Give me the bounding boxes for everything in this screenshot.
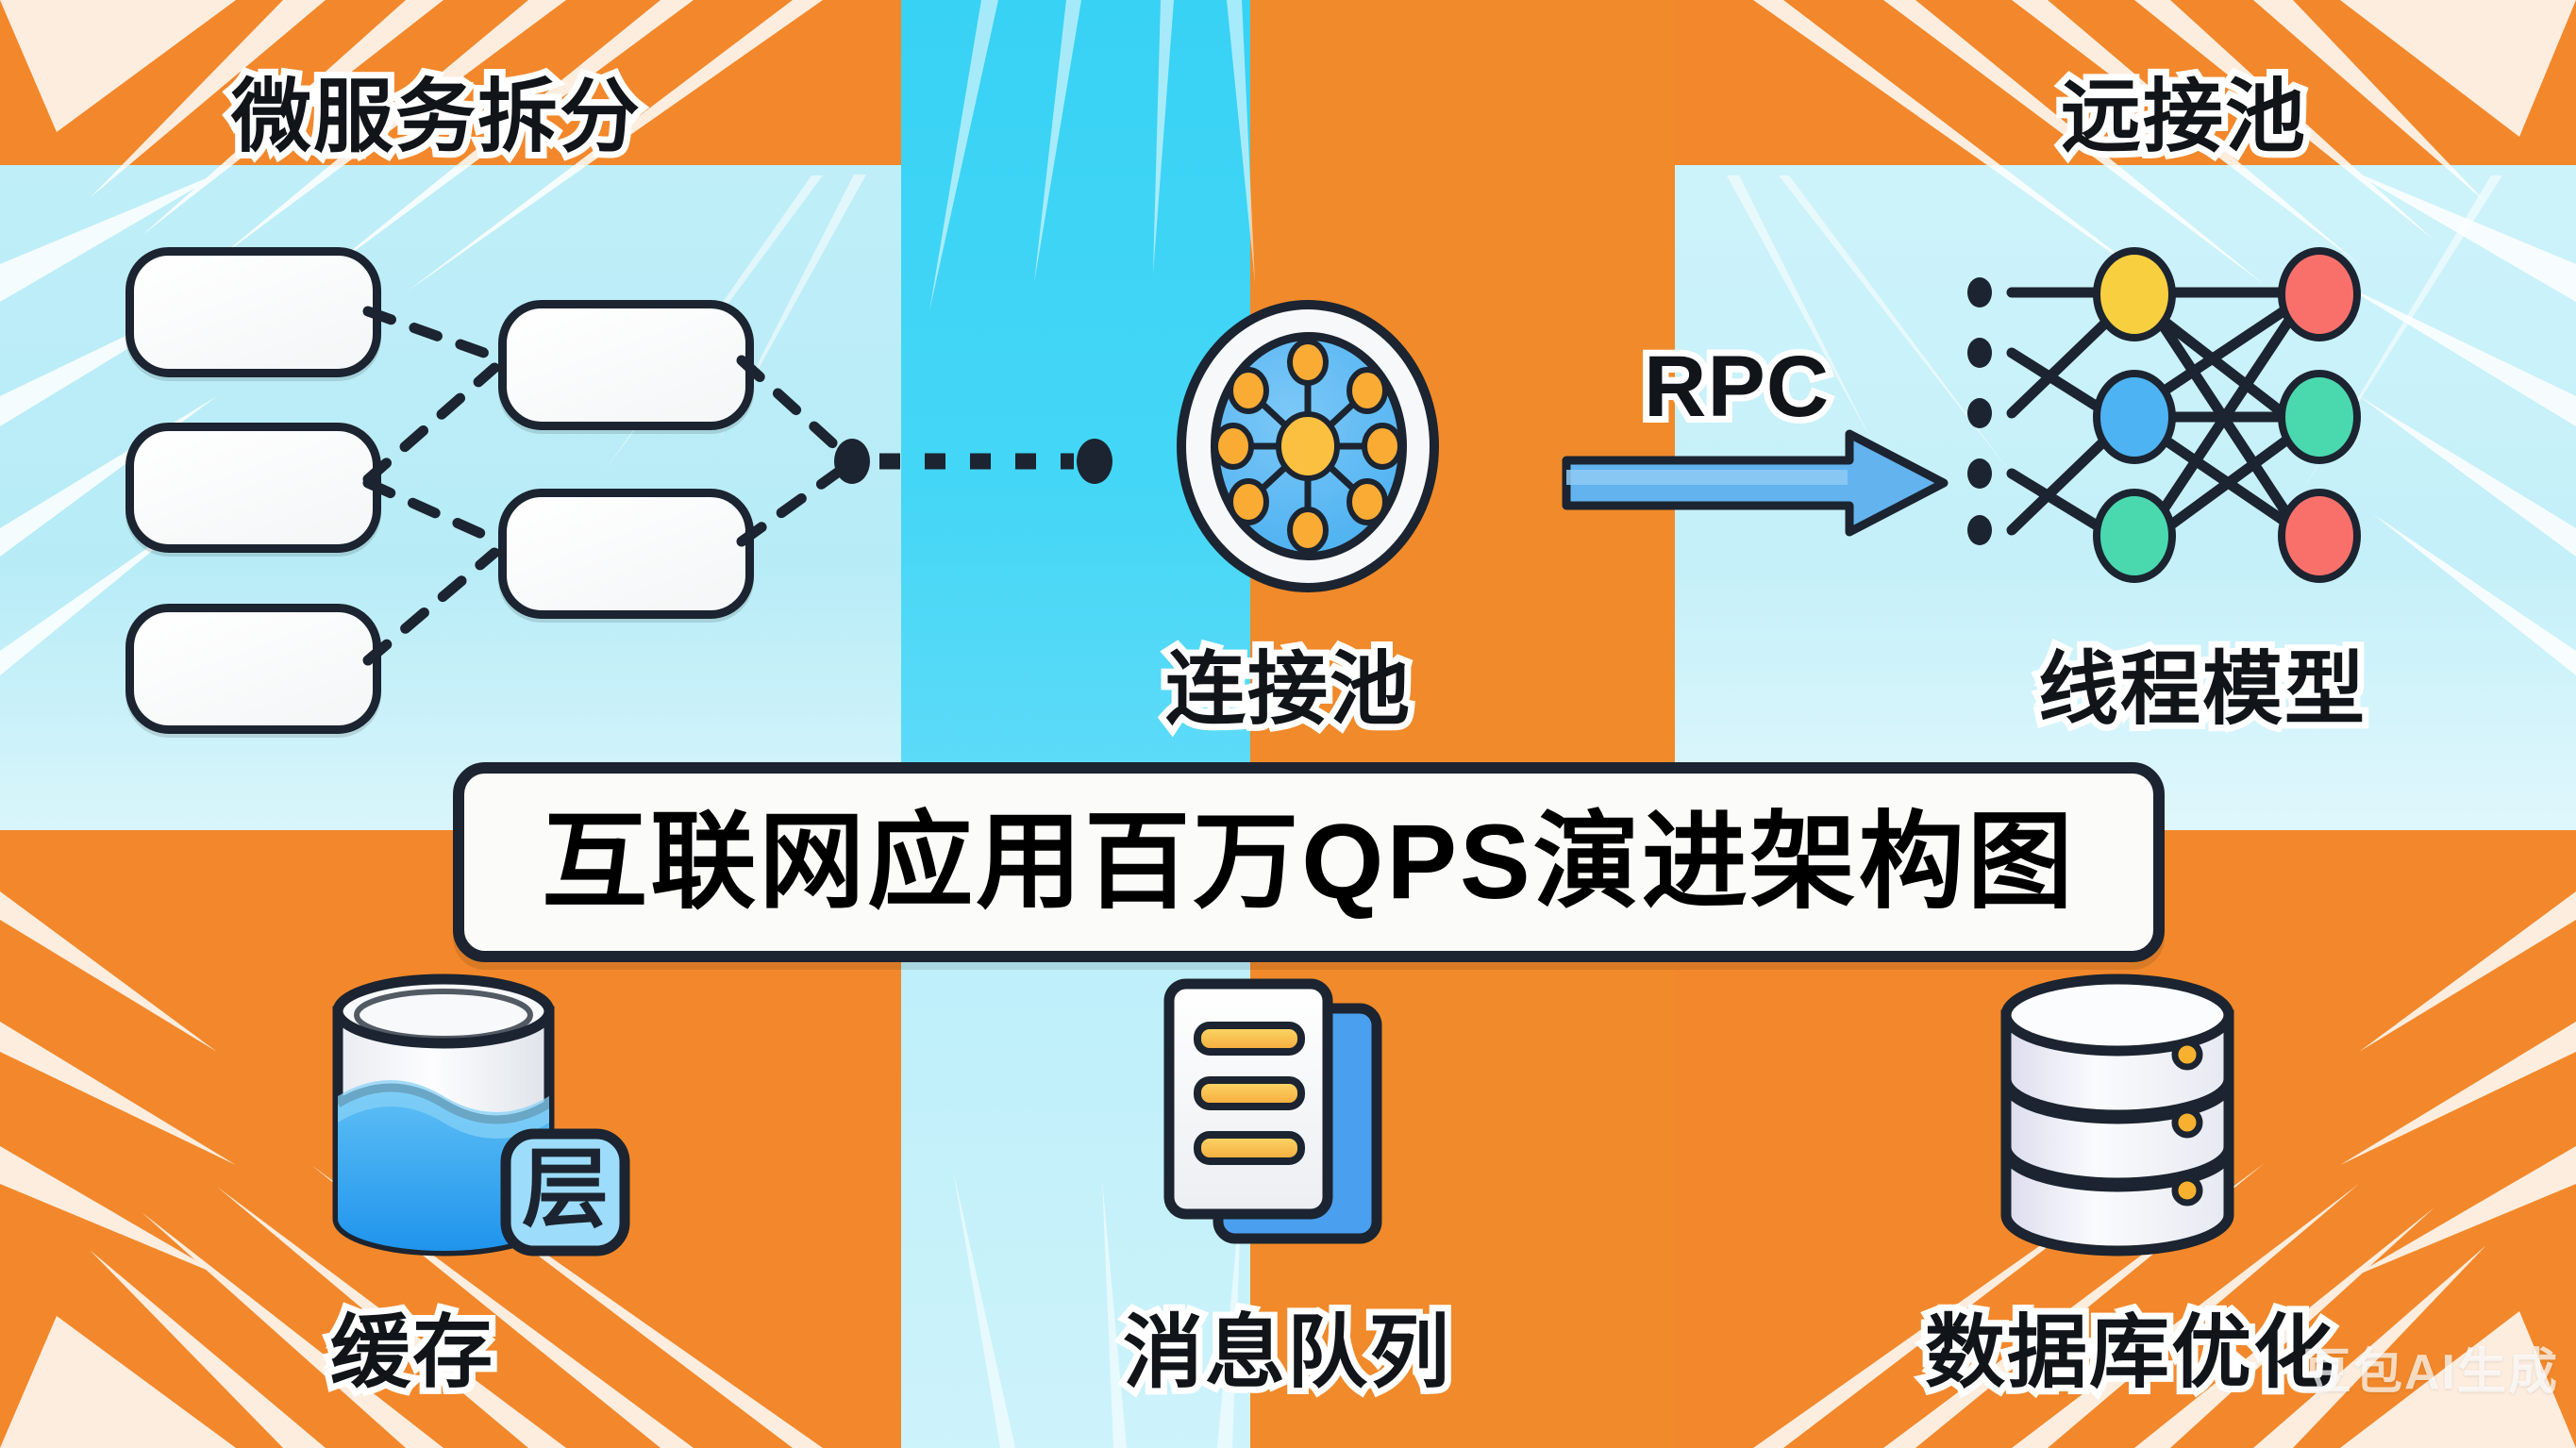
connection-hub-spokes [1177,300,1439,592]
hub-node [1290,509,1326,551]
connection-pool-label: 连接池 [1165,624,1412,741]
hub-node [1349,370,1385,411]
cache-badge-text: 层 [522,1141,609,1238]
message-queue-icon [1128,967,1448,1288]
junction-dot [834,439,870,484]
queue-row [1197,1135,1301,1161]
rpc-label: RPC [1644,338,1830,437]
message-queue-label: 消息队列 [1123,1288,1451,1404]
database-stack-icon [1972,962,2293,1283]
thread-model-label: 线程模型 [2038,624,2367,741]
output-node-red [2282,492,2357,579]
page-title: 互联网应用百万QPS演进架构图 [542,809,2076,915]
db-status-light [2175,1178,2200,1203]
hub-node [1290,341,1326,383]
hub-node [1230,370,1266,411]
database-optimization-label: 数据库优化 [1925,1288,2335,1404]
db-status-light [2175,1110,2200,1135]
hidden-node-green [2097,492,2172,579]
queue-row [1197,1080,1301,1107]
poster-canvas: 微服务拆分 [0,0,2576,1448]
neural-network-icon [1963,274,2387,557]
input-dots [1967,277,1992,545]
rpc-arrow-icon [1547,426,1972,540]
cache-label: 缓存 [330,1288,494,1404]
hidden-node-blue [2097,374,2172,460]
db-top-cap [2006,979,2229,1051]
hub-node [1230,481,1266,523]
db-status-light [2175,1042,2200,1067]
hub-node [1364,425,1400,467]
microservice-dashed-connectors [0,0,1264,849]
hidden-node-yellow [2097,251,2172,338]
hub-node [1349,481,1385,523]
queue-row [1197,1025,1301,1052]
hub-center-node [1279,414,1337,478]
hub-node [1215,425,1251,467]
watermark: 豆包AI生成 [2302,1332,2559,1403]
cache-beaker-icon: 层 [283,972,661,1283]
output-node-red [2282,251,2357,338]
output-node-green [2282,374,2357,460]
junction-dot-right [1077,439,1112,484]
remote-pool-label: 远接池 [2061,52,2307,168]
title-banner: 互联网应用百万QPS演进架构图 [453,762,2165,962]
